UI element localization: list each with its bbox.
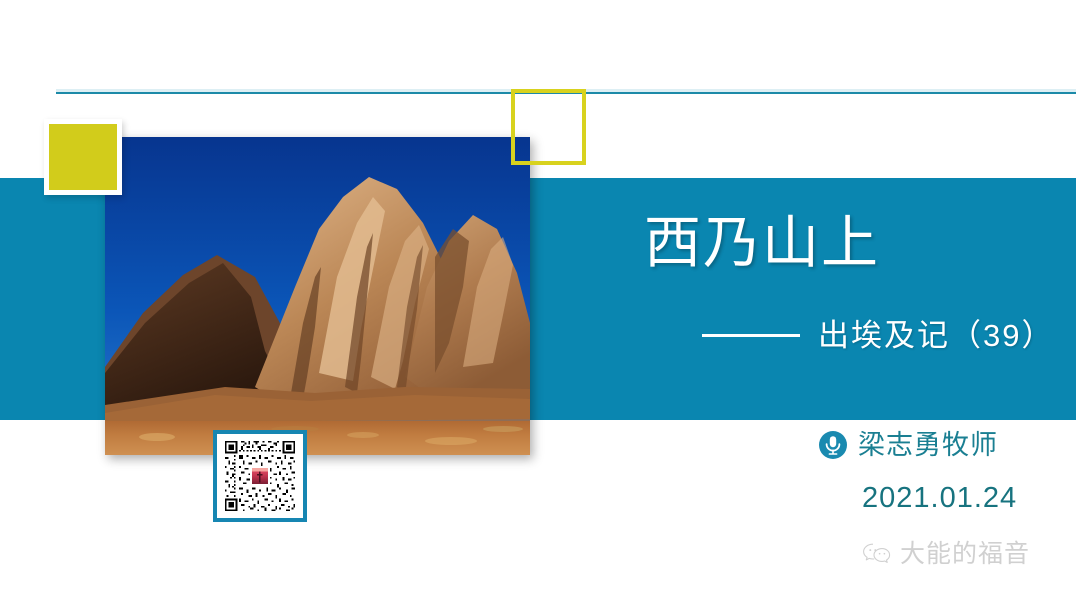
microphone-icon — [818, 430, 848, 460]
mount-sinai-photo — [105, 137, 530, 455]
subtitle-dash — [702, 334, 800, 337]
watermark-text: 大能的福音 — [900, 542, 1030, 567]
decorative-yellow-square-filled — [44, 119, 122, 195]
qr-code[interactable] — [213, 430, 307, 522]
decorative-yellow-square-outline — [511, 89, 586, 165]
speaker-row: 梁志勇牧师 — [818, 430, 998, 460]
subtitle-row: 出埃及记（39） — [702, 320, 1054, 351]
qr-code-matrix — [222, 439, 298, 513]
slide-canvas: 西乃山上 出埃及记（39） 梁志勇牧师 2021.01.24 — [0, 0, 1076, 605]
page-title: 西乃山上 — [644, 215, 880, 272]
microphone-glyph — [818, 430, 848, 460]
speaker-name: 梁志勇牧师 — [858, 432, 998, 459]
subtitle-text: 出埃及记（39） — [818, 320, 1054, 351]
date-text: 2021.01.24 — [862, 484, 1017, 513]
wechat-logo-icon — [862, 541, 892, 567]
mount-sinai-illustration — [105, 137, 530, 455]
wechat-watermark: 大能的福音 — [862, 541, 1030, 567]
wechat-bubbles-glyph — [862, 541, 892, 567]
